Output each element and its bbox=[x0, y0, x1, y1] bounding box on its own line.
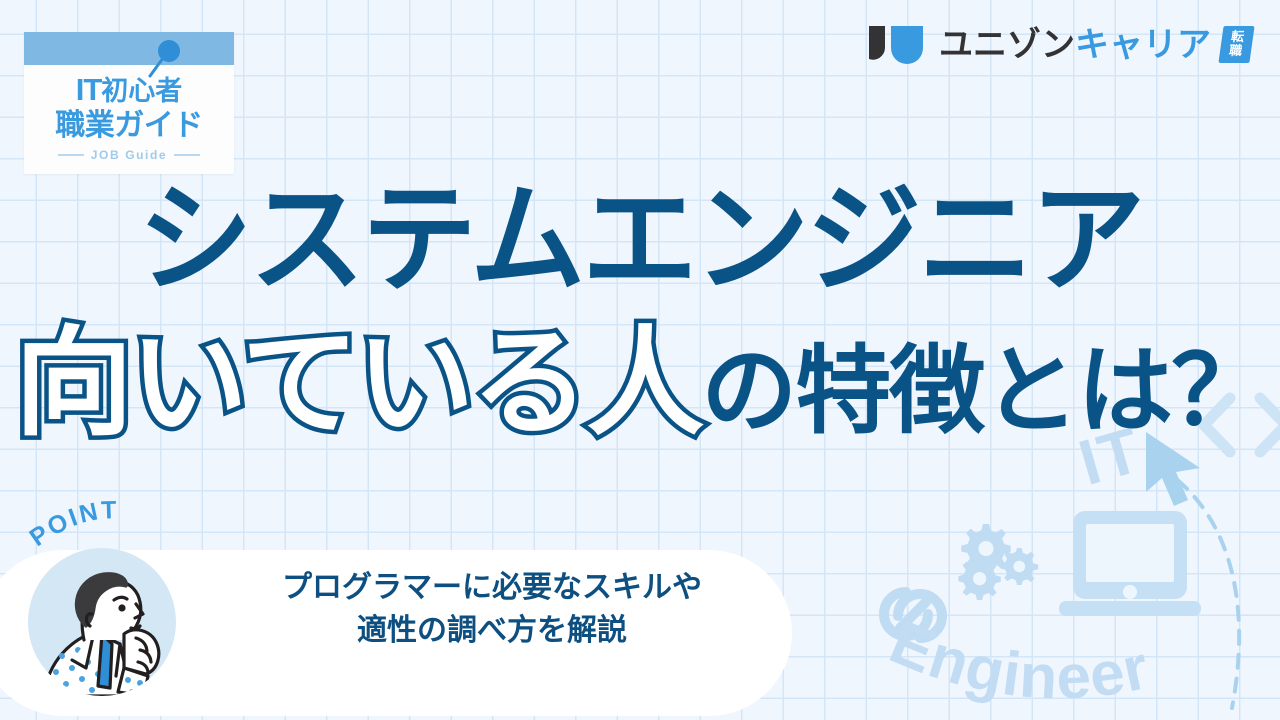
badge-header-bar bbox=[24, 32, 234, 65]
logo-wordmark: ユニゾンキャリア bbox=[939, 28, 1211, 62]
brand-logo[interactable]: ユニゾンキャリア 転職 bbox=[867, 24, 1252, 66]
logo-tenshoku-tag: 転職 bbox=[1218, 26, 1254, 63]
dashed-curve-icon bbox=[1150, 460, 1280, 720]
headline-solid-text: の特徴とは？ bbox=[701, 338, 1265, 445]
point-card-text: プログラマーに必要なスキルや 適性の調べ方を解説 bbox=[222, 567, 762, 652]
badge-line1: IT初心者 bbox=[24, 73, 234, 108]
badge-subtitle-row: JOB Guide bbox=[24, 148, 234, 162]
unison-mark-icon bbox=[867, 24, 929, 66]
svg-text:Engineer: Engineer bbox=[881, 608, 1156, 713]
engineer-textpath: Engineer bbox=[881, 608, 1156, 713]
headline-line1: システムエンジニア bbox=[0, 181, 1280, 301]
point-text-line2: 適性の調べ方を解説 bbox=[222, 610, 762, 653]
pushpin-icon bbox=[140, 38, 186, 84]
badge-subtitle: JOB Guide bbox=[91, 148, 167, 162]
laptop-icon bbox=[1055, 505, 1205, 625]
point-text-line1: プログラマーに必要なスキルや bbox=[222, 567, 762, 610]
gears-icon bbox=[955, 520, 1045, 600]
badge-rule-right bbox=[174, 154, 200, 156]
poster-canvas: IT bbox=[0, 0, 1280, 720]
point-label-textpath: POINT bbox=[28, 500, 119, 552]
thinking-person-illustration bbox=[28, 548, 176, 696]
point-arc-label: POINT bbox=[28, 500, 178, 556]
headline-line2: 向いている人の特徴とは？ bbox=[0, 325, 1280, 443]
svg-text:POINT: POINT bbox=[28, 500, 119, 552]
badge-rule-left bbox=[58, 154, 84, 156]
job-guide-badge: IT初心者 職業ガイド JOB Guide bbox=[24, 32, 234, 174]
badge-it-text: IT bbox=[76, 72, 102, 107]
badge-line2: 職業ガイド bbox=[24, 109, 234, 142]
deco-engineer-text: Engineer bbox=[880, 600, 1280, 720]
link-chain-icon bbox=[868, 570, 958, 660]
logo-text-blue: キャリア bbox=[1075, 26, 1211, 64]
headline-outline-text: 向いている人 bbox=[15, 318, 701, 450]
logo-text-dark: ユニゾン bbox=[939, 26, 1075, 64]
